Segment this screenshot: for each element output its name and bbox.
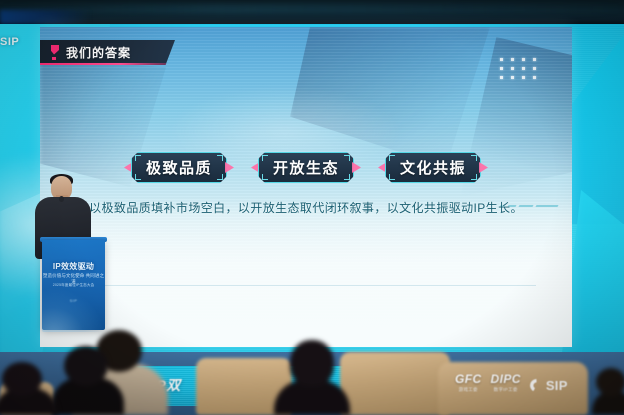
audience-person bbox=[0, 362, 58, 415]
corner-bracket-icon bbox=[135, 155, 141, 161]
slide-bottom-fade bbox=[40, 197, 572, 347]
grid-dot bbox=[500, 76, 503, 79]
pillar-chip-2-label: 开放生态 bbox=[273, 157, 339, 178]
podium-swoosh-graphic bbox=[42, 288, 105, 332]
grid-dot bbox=[533, 58, 536, 61]
corner-bracket-icon bbox=[262, 174, 268, 180]
slide-title-banner: 我们的答案 bbox=[40, 40, 175, 65]
wall-sip-label: SIP bbox=[0, 36, 19, 48]
chevron-right-icon bbox=[479, 162, 488, 173]
sponsor-logo-dipc-sub: 数字IP工委 bbox=[494, 387, 518, 393]
corner-bracket-icon bbox=[344, 155, 350, 161]
corner-bracket-icon bbox=[389, 155, 395, 161]
sponsor-logo-dipc-mark: DIPC bbox=[491, 372, 521, 386]
grid-dot bbox=[522, 58, 525, 61]
pillar-chip-1: 极致品质 bbox=[131, 152, 227, 183]
corner-bracket-icon bbox=[135, 174, 141, 180]
sponsor-logo-gfc-mark: GFC bbox=[455, 372, 482, 386]
sponsor-logo-gfc: GFC 游戏工委 bbox=[455, 372, 482, 393]
audience-person bbox=[52, 346, 124, 415]
pillar-chip-2: 开放生态 bbox=[258, 152, 354, 183]
slide-hairline-rule bbox=[66, 285, 536, 286]
slide-subtitle: 以极致品质填补市场空白，以开放生态取代闭环叙事，以文化共振驱动IP生长。 bbox=[40, 199, 572, 216]
grid-dot bbox=[533, 67, 536, 70]
pillar-chip-group-2: 开放生态 bbox=[251, 152, 361, 183]
corner-bracket-icon bbox=[389, 174, 395, 180]
sponsor-logo-gfc-sub: 游戏工委 bbox=[459, 387, 478, 393]
screenshot-stage: SIP bbox=[0, 0, 624, 415]
sponsor-logo-sip-mark: SIP bbox=[546, 378, 568, 393]
corner-bracket-icon bbox=[217, 155, 223, 161]
pillar-chip-3: 文化共振 bbox=[385, 152, 481, 183]
chair bbox=[340, 352, 450, 415]
ceiling-blue-glow bbox=[0, 10, 90, 24]
podium-title: IP效效驱动 bbox=[42, 261, 105, 272]
ceiling-band bbox=[0, 0, 624, 24]
corner-bracket-icon bbox=[471, 174, 477, 180]
audience-person bbox=[274, 340, 350, 415]
grid-dot bbox=[500, 58, 503, 61]
podium-logo-text: SIP bbox=[42, 298, 105, 303]
exclamation-mark-icon bbox=[50, 45, 60, 61]
corner-bracket-icon bbox=[344, 174, 350, 180]
corner-bracket-icon bbox=[217, 174, 223, 180]
presentation-slide bbox=[40, 27, 572, 347]
pillar-chip-group-3: 文化共振 bbox=[378, 152, 488, 183]
audience-person bbox=[592, 368, 624, 415]
grid-dot bbox=[522, 76, 525, 79]
corner-bracket-icon bbox=[262, 155, 268, 161]
grid-dot bbox=[500, 67, 503, 70]
sponsor-logo-dipc: DIPC 数字IP工委 bbox=[491, 372, 521, 393]
grid-dot bbox=[511, 67, 514, 70]
sponsor-logo-bar: GFC 游戏工委 DIPC 数字IP工委 SIP bbox=[455, 372, 568, 393]
podium-date-line: 2025年度最佳IP生态大会 bbox=[42, 283, 105, 288]
grid-dot bbox=[533, 76, 536, 79]
grid-dot bbox=[511, 76, 514, 79]
grid-dot bbox=[522, 67, 525, 70]
sip-swirl-icon bbox=[530, 379, 543, 392]
pillar-chip-group-1: 极致品质 bbox=[124, 152, 234, 183]
dot-grid-decoration bbox=[500, 58, 536, 79]
microphone-icon bbox=[59, 196, 64, 202]
pillar-chip-3-label: 文化共振 bbox=[400, 157, 466, 178]
pillar-chip-row: 极致品质 开放生态 文化共振 bbox=[40, 152, 572, 183]
pillar-chip-1-label: 极致品质 bbox=[146, 157, 212, 178]
chevron-right-icon bbox=[225, 162, 234, 173]
grid-dot bbox=[511, 58, 514, 61]
corner-bracket-icon bbox=[471, 155, 477, 161]
slide-title-text: 我们的答案 bbox=[66, 44, 131, 61]
ceiling-sheen bbox=[0, 4, 624, 14]
chevron-right-icon bbox=[352, 162, 361, 173]
sponsor-logo-sip: SIP bbox=[530, 378, 568, 393]
